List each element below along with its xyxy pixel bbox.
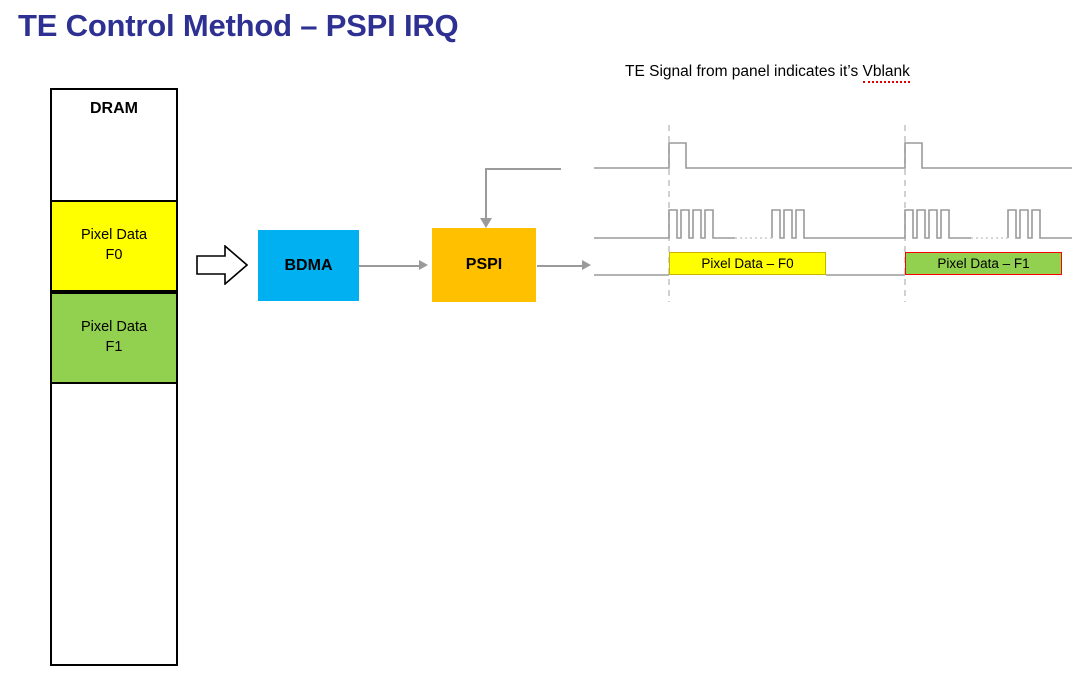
- connector-bdma-to-pspi-arrowhead-icon: [419, 260, 428, 270]
- timing-diagram-caption: TE Signal from panel indicates it’s Vbla…: [625, 63, 910, 81]
- irq-feedback-line-horizontal: [485, 168, 561, 170]
- pspi-block: PSPI: [432, 228, 536, 302]
- pspi-clock-trace: [594, 210, 1072, 238]
- dram-segment-frame0-line1: Pixel Data: [81, 227, 147, 243]
- dram-block: DRAM Pixel Data F0 Pixel Data F1: [50, 88, 178, 666]
- dram-segment-frame0-text: Pixel Data F0: [81, 226, 147, 265]
- irq-feedback-arrowhead-icon: [480, 218, 492, 228]
- packet-bar-frame1: Pixel Data – F1: [905, 252, 1062, 275]
- dram-segment-frame1-line2: F1: [106, 339, 123, 355]
- dram-segment-frame1-line1: Pixel Data: [81, 319, 147, 335]
- connector-bdma-to-pspi: [359, 265, 421, 267]
- page-title: TE Control Method – PSPI IRQ: [18, 8, 458, 44]
- dram-label: DRAM: [52, 100, 176, 118]
- dram-segment-frame1: Pixel Data F1: [52, 292, 176, 384]
- timing-caption-term: Vblank: [863, 63, 910, 83]
- timing-caption-prefix: TE Signal from panel indicates it’s: [625, 63, 863, 80]
- packet-bar-frame0: Pixel Data – F0: [669, 252, 826, 275]
- irq-feedback-line-vertical: [485, 168, 487, 220]
- connector-pspi-to-panel: [537, 265, 584, 267]
- dram-segment-frame0: Pixel Data F0: [52, 200, 176, 292]
- dram-segment-frame1-text: Pixel Data F1: [81, 318, 147, 357]
- timing-waveform-diagram: [590, 110, 1076, 310]
- bdma-block: BDMA: [258, 230, 359, 301]
- dram-segment-frame0-line2: F0: [106, 247, 123, 263]
- block-arrow-right-icon: [196, 245, 248, 285]
- te-signal-trace: [594, 143, 1072, 168]
